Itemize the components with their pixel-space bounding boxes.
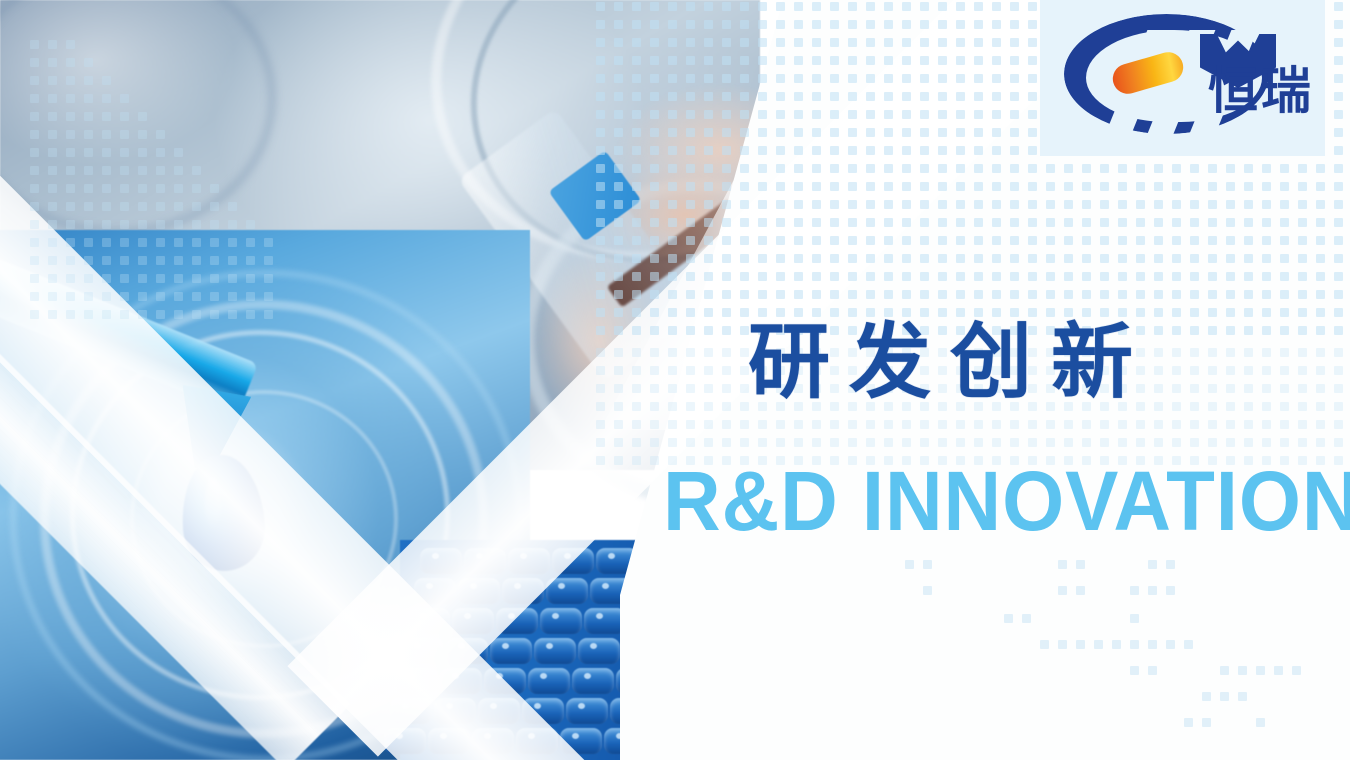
grid-square (848, 200, 857, 209)
grid-square (1208, 402, 1217, 411)
grid-square (1100, 200, 1109, 209)
grid-square (650, 164, 659, 173)
grid-square (48, 184, 57, 193)
grid-square (686, 56, 695, 65)
grid-square (614, 366, 623, 375)
grid-square (1244, 308, 1253, 317)
grid-square (974, 164, 983, 173)
grid-square (1208, 384, 1217, 393)
grid-square (794, 438, 803, 447)
grid-square (722, 92, 731, 101)
grid-square (722, 56, 731, 65)
grid-square (1244, 254, 1253, 263)
grid-square (596, 290, 605, 299)
grid-square (650, 384, 659, 393)
grid-square (758, 20, 767, 29)
grid-square (1082, 200, 1091, 209)
grid-square (956, 56, 965, 65)
grid-square (1076, 586, 1085, 595)
grid-square (848, 146, 857, 155)
grid-square (1154, 236, 1163, 245)
grid-square (938, 110, 947, 119)
grid-square (1190, 348, 1199, 357)
grid-square (740, 290, 749, 299)
grid-square (974, 272, 983, 281)
grid-square (722, 348, 731, 357)
grid-square (1334, 254, 1343, 263)
grid-square (1220, 666, 1229, 675)
grid-square (902, 56, 911, 65)
grid-square (1208, 236, 1217, 245)
grid-square (1244, 366, 1253, 375)
grid-square (1100, 236, 1109, 245)
grid-square (1148, 666, 1157, 675)
grid-square (1028, 420, 1037, 429)
grid-square (614, 146, 623, 155)
grid-square (794, 236, 803, 245)
grid-square (974, 254, 983, 263)
grid-square (758, 146, 767, 155)
grid-square (102, 76, 111, 85)
grid-square (632, 420, 641, 429)
grid-square (30, 94, 39, 103)
grid-square (884, 38, 893, 47)
grid-square (1136, 420, 1145, 429)
grid-square (1010, 420, 1019, 429)
grid-square (84, 130, 93, 139)
grid-square (1100, 308, 1109, 317)
grid-square (884, 182, 893, 191)
grid-square (884, 200, 893, 209)
grid-square (632, 92, 641, 101)
grid-square (1262, 290, 1271, 299)
grid-square (740, 164, 749, 173)
capsule (534, 638, 576, 664)
grid-square (722, 74, 731, 83)
grid-square (1190, 182, 1199, 191)
grid-square (704, 438, 713, 447)
grid-square (686, 164, 695, 173)
grid-square (246, 238, 255, 247)
grid-square (210, 220, 219, 229)
grid-square (740, 272, 749, 281)
grid-square (758, 438, 767, 447)
grid-square (632, 128, 641, 137)
grid-square (848, 254, 857, 263)
grid-square (920, 308, 929, 317)
grid-square (905, 560, 914, 569)
grid-square (1190, 366, 1199, 375)
grid-square (1028, 56, 1037, 65)
grid-square (1256, 718, 1265, 727)
grid-square (830, 74, 839, 83)
grid-square (1154, 326, 1163, 335)
grid-square (650, 110, 659, 119)
grid-square (1334, 402, 1343, 411)
grid-square (1136, 200, 1145, 209)
grid-square (1190, 236, 1199, 245)
grid-square (668, 20, 677, 29)
grid-square (884, 420, 893, 429)
grid-square (974, 218, 983, 227)
grid-square (686, 348, 695, 357)
grid-square (48, 256, 57, 265)
grid-square (830, 164, 839, 173)
grid-square (1028, 438, 1037, 447)
grid-square (704, 348, 713, 357)
grid-square (920, 254, 929, 263)
grid-square (1172, 438, 1181, 447)
grid-square (740, 420, 749, 429)
grid-square (848, 218, 857, 227)
grid-square (1154, 272, 1163, 281)
grid-square (614, 38, 623, 47)
grid-square (596, 254, 605, 263)
grid-square (686, 200, 695, 209)
grid-square (920, 272, 929, 281)
grid-square (30, 40, 39, 49)
grid-square (866, 236, 875, 245)
rd-innovation-banner: 研发创新 R&D INNOVATION 恒瑞 (0, 0, 1350, 760)
grid-square (866, 128, 875, 137)
grid-square (866, 290, 875, 299)
grid-square (722, 128, 731, 137)
grid-square (920, 128, 929, 137)
grid-square (956, 200, 965, 209)
grid-square (174, 220, 183, 229)
grid-square (1118, 254, 1127, 263)
grid-square (1100, 218, 1109, 227)
grid-square (48, 238, 57, 247)
grid-square (1334, 164, 1343, 173)
grid-square (938, 218, 947, 227)
grid-square (138, 112, 147, 121)
grid-square (812, 92, 821, 101)
grid-square (138, 238, 147, 247)
grid-square (102, 130, 111, 139)
grid-square (1118, 200, 1127, 209)
grid-square (30, 58, 39, 67)
grid-square (192, 292, 201, 301)
grid-square (596, 146, 605, 155)
grid-square (848, 308, 857, 317)
grid-square (992, 110, 1001, 119)
grid-square (596, 200, 605, 209)
grid-square (740, 20, 749, 29)
capsule-highlight (602, 583, 609, 589)
grid-square (668, 56, 677, 65)
grid-square (48, 148, 57, 157)
grid-square (650, 182, 659, 191)
grid-square (1262, 182, 1271, 191)
grid-square (596, 182, 605, 191)
grid-square (228, 274, 237, 283)
grid-square (830, 308, 839, 317)
grid-square (1172, 290, 1181, 299)
grid-square (84, 256, 93, 265)
grid-square (120, 166, 129, 175)
grid-square (848, 92, 857, 101)
grid-square (686, 182, 695, 191)
grid-square (1190, 402, 1199, 411)
grid-square (722, 366, 731, 375)
grid-square (1010, 2, 1019, 11)
grid-square (84, 220, 93, 229)
grid-square (776, 290, 785, 299)
grid-square (686, 272, 695, 281)
grid-square (1226, 164, 1235, 173)
grid-square (596, 164, 605, 173)
grid-square (1202, 718, 1211, 727)
grid-square (632, 326, 641, 335)
grid-square (992, 74, 1001, 83)
grid-square (1184, 640, 1193, 649)
grid-square (1280, 438, 1289, 447)
grid-square (102, 148, 111, 157)
grid-square (992, 2, 1001, 11)
grid-square (1316, 384, 1325, 393)
grid-square (866, 164, 875, 173)
grid-square (812, 308, 821, 317)
grid-square (740, 38, 749, 47)
grid-square (1280, 254, 1289, 263)
grid-square (264, 238, 273, 247)
grid-square (794, 254, 803, 263)
grid-square (668, 200, 677, 209)
grid-square (686, 236, 695, 245)
grid-square (812, 2, 821, 11)
grid-square (866, 308, 875, 317)
grid-square (1166, 586, 1175, 595)
grid-square (848, 74, 857, 83)
grid-square (1262, 326, 1271, 335)
grid-square (1010, 92, 1019, 101)
grid-square (650, 420, 659, 429)
grid-square (974, 38, 983, 47)
grid-square (884, 92, 893, 101)
grid-square (66, 202, 75, 211)
hengrui-logo[interactable]: 恒瑞 (1040, 0, 1325, 156)
grid-square (614, 290, 623, 299)
grid-square (794, 164, 803, 173)
grid-square (794, 20, 803, 29)
grid-square (1040, 640, 1049, 649)
grid-square (1316, 200, 1325, 209)
grid-square (1334, 2, 1343, 11)
grid-square (938, 254, 947, 263)
grid-square (48, 310, 57, 319)
grid-square (102, 220, 111, 229)
grid-square (1082, 290, 1091, 299)
headline-chinese: 研发创新 (748, 322, 1152, 404)
grid-square (812, 146, 821, 155)
grid-square (228, 256, 237, 265)
grid-square (84, 238, 93, 247)
grid-square (1064, 290, 1073, 299)
grid-square (668, 2, 677, 11)
grid-square (704, 420, 713, 429)
grid-square (830, 182, 839, 191)
grid-square (1334, 384, 1343, 393)
grid-square (956, 110, 965, 119)
grid-square (794, 74, 803, 83)
grid-square (866, 146, 875, 155)
grid-square (1028, 290, 1037, 299)
grid-square (1208, 420, 1217, 429)
grid-square (758, 272, 767, 281)
grid-square (794, 128, 803, 137)
grid-square (1316, 308, 1325, 317)
grid-square (1172, 348, 1181, 357)
grid-square (938, 92, 947, 101)
grid-square (992, 420, 1001, 429)
grid-square (30, 256, 39, 265)
grid-square (48, 94, 57, 103)
grid-square (1046, 254, 1055, 263)
grid-square (902, 218, 911, 227)
grid-square (704, 164, 713, 173)
grid-square (740, 236, 749, 245)
grid-square (722, 236, 731, 245)
grid-square (866, 200, 875, 209)
grid-square (1244, 326, 1253, 335)
grid-square (1280, 182, 1289, 191)
capsule-highlight (502, 643, 509, 649)
grid-square (1130, 614, 1139, 623)
grid-square (758, 290, 767, 299)
grid-square (1226, 366, 1235, 375)
grid-square (1244, 218, 1253, 227)
capsule (572, 668, 614, 694)
grid-square (758, 164, 767, 173)
grid-square (1190, 164, 1199, 173)
grid-square (740, 56, 749, 65)
grid-square (1226, 348, 1235, 357)
grid-square (1028, 254, 1037, 263)
grid-square (974, 290, 983, 299)
grid-square (812, 38, 821, 47)
grid-square (120, 274, 129, 283)
grid-square (596, 128, 605, 137)
grid-square (956, 254, 965, 263)
grid-square (974, 56, 983, 65)
grid-square (1316, 326, 1325, 335)
grid-square (264, 274, 273, 283)
grid-square (956, 146, 965, 155)
grid-square (668, 308, 677, 317)
grid-square (902, 110, 911, 119)
grid-square (884, 254, 893, 263)
grid-square (740, 182, 749, 191)
grid-square (1262, 218, 1271, 227)
grid-square (740, 308, 749, 317)
grid-square (758, 38, 767, 47)
grid-square (1280, 384, 1289, 393)
grid-square (596, 74, 605, 83)
grid-square (138, 166, 147, 175)
grid-square (776, 110, 785, 119)
grid-square (1274, 666, 1283, 675)
grid-square (992, 92, 1001, 101)
grid-square (1172, 326, 1181, 335)
grid-square (686, 20, 695, 29)
grid-square (138, 184, 147, 193)
grid-square (920, 92, 929, 101)
grid-square (776, 236, 785, 245)
grid-square (1172, 218, 1181, 227)
grid-square (66, 256, 75, 265)
grid-square (30, 202, 39, 211)
grid-square (920, 182, 929, 191)
grid-square (48, 58, 57, 67)
grid-square (758, 218, 767, 227)
grid-square (1028, 20, 1037, 29)
grid-square (120, 184, 129, 193)
grid-square (1202, 692, 1211, 701)
grid-square (776, 272, 785, 281)
grid-square (848, 272, 857, 281)
grid-square (848, 110, 857, 119)
grid-square (48, 274, 57, 283)
grid-square (1316, 164, 1325, 173)
grid-square (1010, 110, 1019, 119)
grid-square (920, 110, 929, 119)
grid-square (902, 200, 911, 209)
grid-square (1280, 402, 1289, 411)
grid-square (1244, 182, 1253, 191)
grid-square (668, 254, 677, 263)
grid-square (1148, 586, 1157, 595)
grid-square (632, 2, 641, 11)
grid-square (1172, 254, 1181, 263)
grid-square (1136, 308, 1145, 317)
grid-square (1010, 164, 1019, 173)
grid-square (1298, 236, 1307, 245)
grid-square (848, 420, 857, 429)
grid-square (1190, 308, 1199, 317)
grid-square (1334, 92, 1343, 101)
capsule (490, 638, 532, 664)
grid-square (1262, 420, 1271, 429)
grid-square (902, 438, 911, 447)
grid-square (686, 290, 695, 299)
grid-square (1028, 200, 1037, 209)
grid-square (66, 76, 75, 85)
grid-square (902, 308, 911, 317)
grid-square (84, 94, 93, 103)
grid-square (722, 272, 731, 281)
grid-square (192, 310, 201, 319)
grid-square (1100, 420, 1109, 429)
grid-square (1010, 200, 1019, 209)
grid-square (884, 110, 893, 119)
grid-square (632, 200, 641, 209)
grid-square (794, 218, 803, 227)
grid-square (614, 236, 623, 245)
grid-square (1226, 218, 1235, 227)
grid-square (1298, 348, 1307, 357)
grid-square (704, 384, 713, 393)
grid-square (668, 348, 677, 357)
grid-square (704, 146, 713, 155)
grid-square (776, 254, 785, 263)
grid-square (794, 38, 803, 47)
grid-square (1022, 614, 1031, 623)
grid-square (596, 308, 605, 317)
grid-square (614, 2, 623, 11)
grid-square (686, 92, 695, 101)
grid-square (1298, 272, 1307, 281)
